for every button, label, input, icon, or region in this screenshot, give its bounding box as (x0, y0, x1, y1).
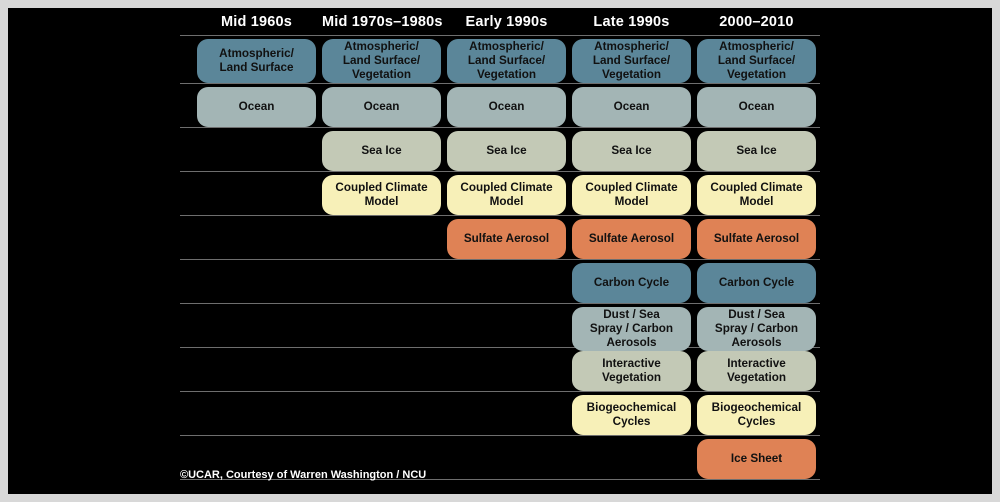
component-box-sulfate-aerosol-col3[interactable]: Sulfate Aerosol (447, 219, 566, 259)
component-box-label: Coupled ClimateModel (710, 181, 802, 209)
label-line: Coupled Climate (460, 181, 552, 195)
label-line: Model (335, 195, 427, 209)
label-line: Sea Ice (361, 144, 401, 158)
label-line: Land Surface/ (468, 54, 545, 68)
component-box-label: Sea Ice (361, 144, 401, 158)
label-line: Carbon Cycle (594, 276, 669, 290)
label-line: Sulfate Aerosol (714, 232, 799, 246)
label-line: Vegetation (727, 371, 786, 385)
label-line: Interactive (727, 357, 786, 371)
component-box-label: Sulfate Aerosol (714, 232, 799, 246)
component-box-label: Coupled ClimateModel (335, 181, 427, 209)
label-line: Ocean (364, 100, 400, 114)
component-box-sea-ice-col5[interactable]: Sea Ice (697, 131, 816, 171)
component-box-ocean-col1[interactable]: Ocean (197, 87, 316, 127)
label-line: Dust / Sea (590, 308, 673, 322)
column-header-row: Mid 1960sMid 1970s–1980sEarly 1990sLate … (8, 8, 992, 36)
component-box-interactive-vegetation-col4[interactable]: InteractiveVegetation (572, 351, 691, 391)
column-header-4: Late 1990s (572, 14, 691, 30)
label-line: Ocean (614, 100, 650, 114)
column-header-2: Mid 1970s–1980s (322, 14, 441, 30)
row-separator-9 (180, 391, 820, 392)
label-line: Atmospheric/ (219, 47, 294, 61)
label-line: Interactive (602, 357, 661, 371)
column-header-3: Early 1990s (447, 14, 566, 30)
label-line: Atmospheric/ (468, 40, 545, 54)
label-line: Sea Ice (736, 144, 776, 158)
component-box-label: BiogeochemicalCycles (712, 401, 802, 429)
label-line: Land Surface/ (718, 54, 795, 68)
label-line: Biogeochemical (587, 401, 677, 415)
diagram-canvas: Mid 1960sMid 1970s–1980sEarly 1990sLate … (8, 8, 992, 494)
label-line: Atmospheric/ (593, 40, 670, 54)
component-box-label: Ocean (364, 100, 400, 114)
label-line: Ocean (739, 100, 775, 114)
component-box-label: BiogeochemicalCycles (587, 401, 677, 429)
label-line: Vegetation (593, 68, 670, 82)
component-box-ice-sheet-col5[interactable]: Ice Sheet (697, 439, 816, 479)
label-line: Aerosols (590, 336, 673, 350)
row-separator-3 (180, 127, 820, 128)
component-box-label: Dust / SeaSpray / CarbonAerosols (715, 308, 798, 349)
component-box-label: Atmospheric/Land Surface (219, 47, 294, 75)
component-box-biogeochemical-cycles-col4[interactable]: BiogeochemicalCycles (572, 395, 691, 435)
label-line: Ice Sheet (731, 452, 782, 466)
component-box-sulfate-aerosol-col5[interactable]: Sulfate Aerosol (697, 219, 816, 259)
component-box-sea-ice-col3[interactable]: Sea Ice (447, 131, 566, 171)
label-line: Sea Ice (486, 144, 526, 158)
component-box-label: Sea Ice (736, 144, 776, 158)
row-separator-4 (180, 171, 820, 172)
label-line: Carbon Cycle (719, 276, 794, 290)
label-line: Sulfate Aerosol (589, 232, 674, 246)
component-box-label: Carbon Cycle (594, 276, 669, 290)
row-separator-1 (180, 35, 820, 36)
label-line: Vegetation (602, 371, 661, 385)
label-line: Vegetation (468, 68, 545, 82)
label-line: Vegetation (718, 68, 795, 82)
component-box-label: InteractiveVegetation (727, 357, 786, 385)
label-line: Land Surface/ (343, 54, 420, 68)
component-box-atmospheric-land-surface-col3[interactable]: Atmospheric/Land Surface/Vegetation (447, 39, 566, 83)
component-box-label: Ocean (239, 100, 275, 114)
label-line: Sea Ice (611, 144, 651, 158)
label-line: Spray / Carbon (590, 322, 673, 336)
label-line: Biogeochemical (712, 401, 802, 415)
label-line: Sulfate Aerosol (464, 232, 549, 246)
component-box-atmospheric-land-surface-col2[interactable]: Atmospheric/Land Surface/Vegetation (322, 39, 441, 83)
row-separator-6 (180, 259, 820, 260)
column-header-5: 2000–2010 (697, 14, 816, 30)
component-box-label: InteractiveVegetation (602, 357, 661, 385)
component-box-label: Dust / SeaSpray / CarbonAerosols (590, 308, 673, 349)
component-box-label: Sulfate Aerosol (464, 232, 549, 246)
row-separator-10 (180, 435, 820, 436)
component-box-carbon-cycle-col5[interactable]: Carbon Cycle (697, 263, 816, 303)
component-box-coupled-climate-model-col4[interactable]: Coupled ClimateModel (572, 175, 691, 215)
component-box-label: Ocean (614, 100, 650, 114)
label-line: Model (460, 195, 552, 209)
component-box-label: Sulfate Aerosol (589, 232, 674, 246)
component-box-label: Sea Ice (611, 144, 651, 158)
label-line: Dust / Sea (715, 308, 798, 322)
component-box-atmospheric-land-surface-col5[interactable]: Atmospheric/Land Surface/Vegetation (697, 39, 816, 83)
label-line: Atmospheric/ (343, 40, 420, 54)
label-line: Ocean (239, 100, 275, 114)
component-box-label: Atmospheric/Land Surface/Vegetation (468, 40, 545, 81)
label-line: Cycles (587, 415, 677, 429)
label-line: Land Surface (219, 61, 294, 75)
label-line: Land Surface/ (593, 54, 670, 68)
component-box-ocean-col4[interactable]: Ocean (572, 87, 691, 127)
label-line: Atmospheric/ (718, 40, 795, 54)
label-line: Cycles (712, 415, 802, 429)
row-separator-7 (180, 303, 820, 304)
credit-line: ©UCAR, Courtesy of Warren Washington / N… (180, 469, 426, 481)
component-box-label: Ocean (489, 100, 525, 114)
component-box-label: Coupled ClimateModel (585, 181, 677, 209)
label-line: Model (710, 195, 802, 209)
component-box-atmospheric-land-surface-col1[interactable]: Atmospheric/Land Surface (197, 39, 316, 83)
component-box-sea-ice-col4[interactable]: Sea Ice (572, 131, 691, 171)
component-box-ocean-col3[interactable]: Ocean (447, 87, 566, 127)
component-box-ocean-col5[interactable]: Ocean (697, 87, 816, 127)
label-line: Vegetation (343, 68, 420, 82)
label-line: Model (585, 195, 677, 209)
component-box-label: Carbon Cycle (719, 276, 794, 290)
label-line: Coupled Climate (335, 181, 427, 195)
component-box-carbon-cycle-col4[interactable]: Carbon Cycle (572, 263, 691, 303)
row-separator-2 (180, 83, 820, 84)
component-box-atmospheric-land-surface-col4[interactable]: Atmospheric/Land Surface/Vegetation (572, 39, 691, 83)
row-separator-5 (180, 215, 820, 216)
label-line: Spray / Carbon (715, 322, 798, 336)
component-box-label: Sea Ice (486, 144, 526, 158)
label-line: Aerosols (715, 336, 798, 350)
component-box-dust-sea-spray-carbon-aerosols-col5[interactable]: Dust / SeaSpray / CarbonAerosols (697, 307, 816, 351)
component-box-ocean-col2[interactable]: Ocean (322, 87, 441, 127)
component-box-label: Ocean (739, 100, 775, 114)
component-box-label: Atmospheric/Land Surface/Vegetation (718, 40, 795, 81)
column-header-1: Mid 1960s (197, 14, 316, 30)
component-box-label: Ice Sheet (731, 452, 782, 466)
component-box-sulfate-aerosol-col4[interactable]: Sulfate Aerosol (572, 219, 691, 259)
component-box-label: Atmospheric/Land Surface/Vegetation (593, 40, 670, 81)
label-line: Ocean (489, 100, 525, 114)
component-box-interactive-vegetation-col5[interactable]: InteractiveVegetation (697, 351, 816, 391)
component-box-sea-ice-col2[interactable]: Sea Ice (322, 131, 441, 171)
label-line: Coupled Climate (585, 181, 677, 195)
component-box-label: Coupled ClimateModel (460, 181, 552, 209)
component-box-coupled-climate-model-col2[interactable]: Coupled ClimateModel (322, 175, 441, 215)
component-box-dust-sea-spray-carbon-aerosols-col4[interactable]: Dust / SeaSpray / CarbonAerosols (572, 307, 691, 351)
label-line: Coupled Climate (710, 181, 802, 195)
component-box-label: Atmospheric/Land Surface/Vegetation (343, 40, 420, 81)
component-box-coupled-climate-model-col3[interactable]: Coupled ClimateModel (447, 175, 566, 215)
component-box-coupled-climate-model-col5[interactable]: Coupled ClimateModel (697, 175, 816, 215)
component-box-biogeochemical-cycles-col5[interactable]: BiogeochemicalCycles (697, 395, 816, 435)
